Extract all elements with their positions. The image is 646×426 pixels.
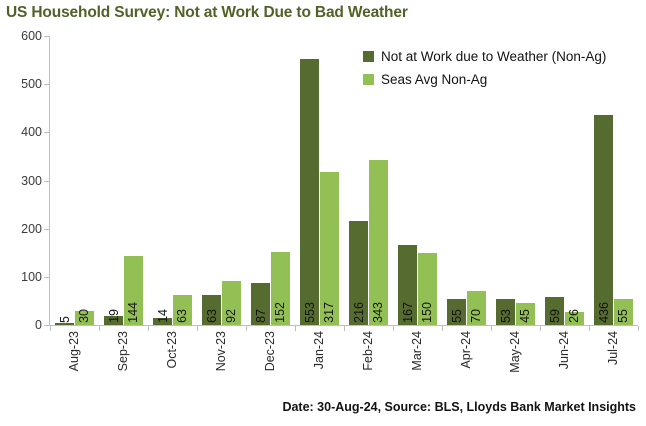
- chart-title: US Household Survey: Not at Work Due to …: [6, 4, 408, 22]
- y-axis-labels: 0100200300400500600: [0, 0, 42, 426]
- y-axis-tick-label: 100: [21, 270, 42, 284]
- x-axis-tick-mark: [491, 326, 492, 331]
- bar-aug-23-not-at-work[interactable]: 5: [55, 323, 75, 325]
- y-axis-tick-mark: [44, 84, 49, 85]
- bar-value-label: 53: [499, 309, 512, 323]
- y-axis-tick-label: 500: [21, 77, 42, 91]
- x-axis-tick-mark: [589, 326, 590, 331]
- bar-mar-24-not-at-work[interactable]: 167: [398, 245, 418, 325]
- y-axis-tick-mark: [44, 132, 49, 133]
- x-axis-tick-mark: [99, 326, 100, 331]
- legend-swatch-icon: [363, 74, 374, 85]
- x-axis-category-label: Feb-24: [362, 331, 375, 371]
- bar-may-24-seas-avg[interactable]: 45: [516, 303, 536, 325]
- bar-value-label: 343: [372, 302, 385, 323]
- x-axis-tick-mark: [246, 326, 247, 331]
- bar-value-label: 553: [303, 302, 316, 323]
- x-axis-category-label: Nov-23: [215, 331, 228, 371]
- legend-swatch-icon: [363, 51, 374, 62]
- bar-value-label: 63: [205, 309, 218, 323]
- x-axis-category-label: Jan-24: [313, 331, 326, 369]
- bar-jul-24-seas-avg[interactable]: 55: [614, 299, 634, 325]
- bar-mar-24-seas-avg[interactable]: 150: [418, 253, 438, 325]
- bar-dec-23-seas-avg[interactable]: 152: [271, 252, 291, 325]
- x-axis-category-label: Dec-23: [264, 331, 277, 371]
- bar-dec-23-not-at-work[interactable]: 87: [251, 283, 271, 325]
- bar-value-label: 14: [156, 309, 169, 323]
- bar-value-label: 152: [274, 302, 287, 323]
- bar-value-label: 216: [352, 302, 365, 323]
- bar-value-label: 70: [470, 309, 483, 323]
- bar-nov-23-not-at-work[interactable]: 63: [202, 295, 222, 325]
- x-axis-tick-mark: [50, 326, 51, 331]
- legend-item-label: Seas Avg Non-Ag: [381, 72, 487, 87]
- bar-oct-23-not-at-work[interactable]: 14: [153, 318, 173, 325]
- y-axis-tick-label: 0: [35, 318, 42, 332]
- x-axis-category-label: Jun-24: [558, 331, 571, 369]
- y-axis-tick-label: 200: [21, 222, 42, 236]
- x-axis-tick-mark: [148, 326, 149, 331]
- x-axis-tick-mark: [540, 326, 541, 331]
- y-axis-tick-mark: [44, 229, 49, 230]
- legend-item-not-at-work[interactable]: Not at Work due to Weather (Non-Ag): [363, 48, 606, 64]
- bar-jan-24-not-at-work[interactable]: 553: [300, 59, 320, 325]
- bar-jun-24-not-at-work[interactable]: 59: [545, 297, 565, 325]
- x-axis-tick-mark: [344, 326, 345, 331]
- x-axis-tick-mark: [295, 326, 296, 331]
- bar-value-label: 87: [254, 309, 267, 323]
- bar-nov-23-seas-avg[interactable]: 92: [222, 281, 242, 325]
- bar-value-label: 55: [617, 309, 630, 323]
- bar-value-label: 5: [58, 316, 71, 323]
- bar-oct-23-seas-avg[interactable]: 63: [173, 295, 193, 325]
- y-axis-tick-label: 600: [21, 29, 42, 43]
- bar-may-24-not-at-work[interactable]: 53: [496, 299, 516, 325]
- x-axis-tick-mark: [393, 326, 394, 331]
- bar-value-label: 92: [225, 309, 238, 323]
- x-axis-category-label: Aug-23: [68, 331, 81, 371]
- bar-value-label: 63: [176, 309, 189, 323]
- bar-jun-24-seas-avg[interactable]: 26: [565, 312, 585, 325]
- y-axis-tick-mark: [44, 36, 49, 37]
- bar-value-label: 317: [323, 302, 336, 323]
- bar-value-label: 55: [450, 309, 463, 323]
- legend-item-label: Not at Work due to Weather (Non-Ag): [381, 49, 606, 64]
- x-axis-tick-mark: [442, 326, 443, 331]
- bar-feb-24-not-at-work[interactable]: 216: [349, 221, 369, 325]
- chart-footer-source: Date: 30-Aug-24, Source: BLS, Lloyds Ban…: [0, 400, 636, 414]
- y-axis-tick-mark: [44, 325, 49, 326]
- bar-value-label: 26: [568, 309, 581, 323]
- chart-container: US Household Survey: Not at Work Due to …: [0, 0, 646, 426]
- x-axis-category-label: May-24: [509, 331, 522, 373]
- bar-apr-24-not-at-work[interactable]: 55: [447, 299, 467, 325]
- bar-jul-24-not-at-work[interactable]: 436: [594, 115, 614, 325]
- bar-value-label: 436: [597, 302, 610, 323]
- x-axis-category-label: Jul-24: [607, 331, 620, 365]
- y-axis-tick-label: 400: [21, 125, 42, 139]
- bar-apr-24-seas-avg[interactable]: 70: [467, 291, 487, 325]
- bar-value-label: 45: [519, 309, 532, 323]
- y-axis-tick-label: 300: [21, 174, 42, 188]
- x-axis-category-label: Mar-24: [411, 331, 424, 371]
- bar-value-label: 19: [107, 309, 120, 323]
- chart-legend: Not at Work due to Weather (Non-Ag) Seas…: [363, 48, 606, 94]
- y-axis-tick-mark: [44, 181, 49, 182]
- bar-value-label: 30: [78, 309, 91, 323]
- y-axis-tick-mark: [44, 277, 49, 278]
- bar-value-label: 59: [548, 309, 561, 323]
- x-axis-category-label: Oct-23: [166, 331, 179, 369]
- bar-feb-24-seas-avg[interactable]: 343: [369, 160, 389, 325]
- bar-value-label: 150: [421, 302, 434, 323]
- legend-item-seas-avg[interactable]: Seas Avg Non-Ag: [363, 71, 606, 87]
- bar-aug-23-seas-avg[interactable]: 30: [75, 311, 95, 325]
- x-axis-tick-mark: [638, 326, 639, 331]
- bar-sep-23-not-at-work[interactable]: 19: [104, 316, 124, 325]
- x-axis-category-label: Sep-23: [117, 331, 130, 371]
- x-axis-tick-mark: [197, 326, 198, 331]
- bar-value-label: 167: [401, 302, 414, 323]
- bar-sep-23-seas-avg[interactable]: 144: [124, 256, 144, 325]
- bar-jan-24-seas-avg[interactable]: 317: [320, 172, 340, 325]
- x-axis-category-label: Apr-24: [460, 331, 473, 369]
- bar-value-label: 144: [127, 302, 140, 323]
